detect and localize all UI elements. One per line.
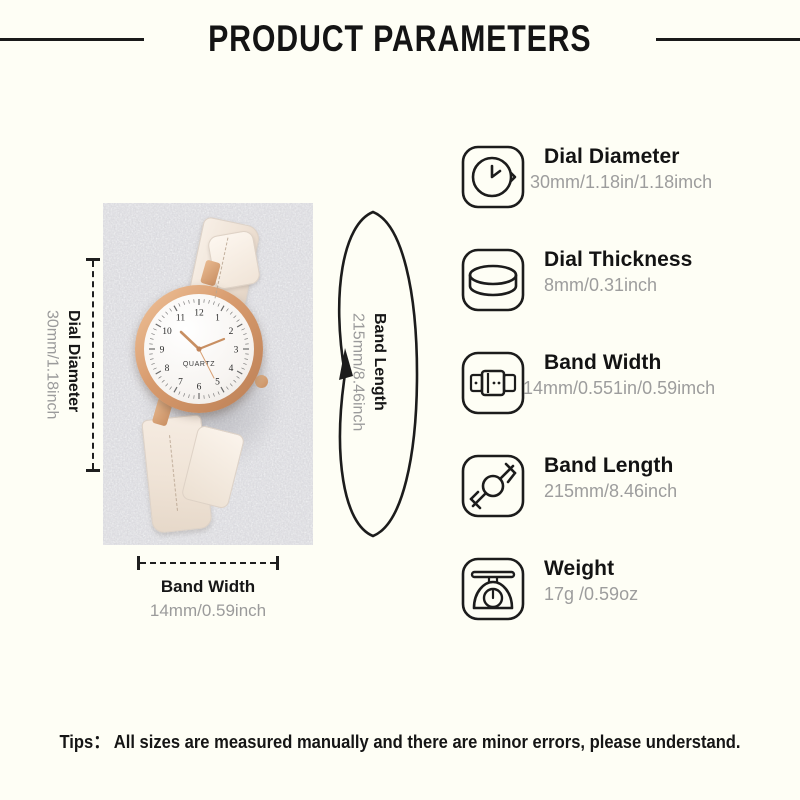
dial-diameter-label: Dial Diameter [65, 310, 82, 412]
spec-text-weight: Weight 17g /0.59oz [544, 557, 638, 605]
page-header: PRODUCT PARAMETERS [0, 0, 800, 78]
svg-text:12: 12 [194, 308, 204, 318]
spec-list: Dial Diameter 30mm/1.18in/1.18imch Dial … [458, 142, 788, 644]
title-rule-left [0, 38, 144, 41]
disc-thickness-icon [458, 245, 528, 315]
watch-dial: 121234567891011 QUARTZ [144, 294, 254, 404]
svg-text:8: 8 [165, 364, 170, 374]
spec-label: Band Length [544, 454, 673, 477]
band-length-label: Band Length [371, 313, 388, 411]
product-photo-block: 121234567891011 QUARTZ [103, 203, 313, 545]
tips-note: Tips： All sizes are measured manually an… [32, 728, 768, 754]
spec-row-dial-diameter: Dial Diameter 30mm/1.18in/1.18imch [458, 142, 788, 245]
spec-label: Weight [544, 557, 614, 580]
spec-row-weight: Weight 17g /0.59oz [458, 554, 788, 644]
bracket-cap-right [276, 556, 279, 570]
dial-brand-text: QUARTZ [183, 361, 215, 368]
svg-text:2: 2 [229, 327, 234, 337]
spec-text-dial-diameter: Dial Diameter 30mm/1.18in/1.18imch [544, 145, 712, 193]
svg-text:7: 7 [178, 377, 183, 387]
spec-text-band-length: Band Length 215mm/8.46inch [544, 454, 677, 502]
spec-row-band-width: Band Width 14mm/0.551in/0.59imch [458, 348, 788, 451]
dial-diameter-text: Dial Diameter 30mm/1.18inch [41, 258, 84, 472]
watch-dial-icon [458, 142, 528, 212]
bracket-cap-bottom [86, 469, 100, 472]
dial-diameter-bracket [86, 258, 100, 472]
watch-buckle-icon [458, 348, 528, 418]
band-width-value: 14mm/0.59inch [103, 601, 313, 621]
spec-text-band-width: Band Width 14mm/0.551in/0.59imch [544, 351, 715, 399]
watch-product-photo: 121234567891011 QUARTZ [103, 203, 313, 545]
page-title: PRODUCT PARAMETERS [208, 18, 591, 60]
band-width-bracket [137, 556, 279, 570]
callout-dial-diameter: Dial Diameter 30mm/1.18inch [38, 258, 100, 472]
spec-label: Band Width [544, 351, 661, 374]
svg-text:6: 6 [197, 382, 202, 392]
dial-diameter-value: 30mm/1.18inch [43, 310, 60, 419]
svg-text:11: 11 [176, 313, 185, 323]
spec-row-dial-thickness: Dial Thickness 8mm/0.31inch [458, 245, 788, 348]
watch-case: 121234567891011 QUARTZ [135, 285, 263, 413]
svg-text:4: 4 [229, 364, 234, 374]
spec-text-dial-thickness: Dial Thickness 8mm/0.31inch [544, 248, 692, 296]
spec-value: 30mm/1.18in/1.18imch [530, 172, 712, 193]
svg-text:1: 1 [215, 313, 220, 323]
svg-text:10: 10 [162, 327, 172, 337]
svg-text:5: 5 [215, 377, 220, 387]
watch-hands [181, 332, 224, 378]
spec-value: 14mm/0.551in/0.59imch [523, 378, 715, 399]
spec-label: Dial Thickness [544, 248, 692, 271]
spec-value: 215mm/8.46inch [544, 481, 677, 502]
spec-value: 17g /0.59oz [544, 584, 638, 605]
band-length-text: Band Length 215mm/8.46inch [347, 198, 390, 546]
watch-crown [255, 375, 268, 388]
watch-strap-icon [458, 451, 528, 521]
svg-text:3: 3 [234, 345, 239, 355]
spec-row-band-length: Band Length 215mm/8.46inch [458, 451, 788, 554]
kitchen-scale-icon [458, 554, 528, 624]
callout-band-width: Band Width 14mm/0.59inch [103, 556, 313, 621]
bracket-dashed-line [92, 261, 94, 469]
spec-label: Dial Diameter [544, 145, 680, 168]
title-rule-right [656, 38, 800, 41]
bracket-dashed-line [140, 562, 276, 564]
band-length-value: 215mm/8.46inch [350, 313, 367, 431]
spec-value: 8mm/0.31inch [544, 275, 692, 296]
callout-band-length: Band Length 215mm/8.46inch [325, 198, 429, 546]
band-width-label: Band Width [103, 577, 313, 597]
svg-text:9: 9 [160, 345, 165, 355]
